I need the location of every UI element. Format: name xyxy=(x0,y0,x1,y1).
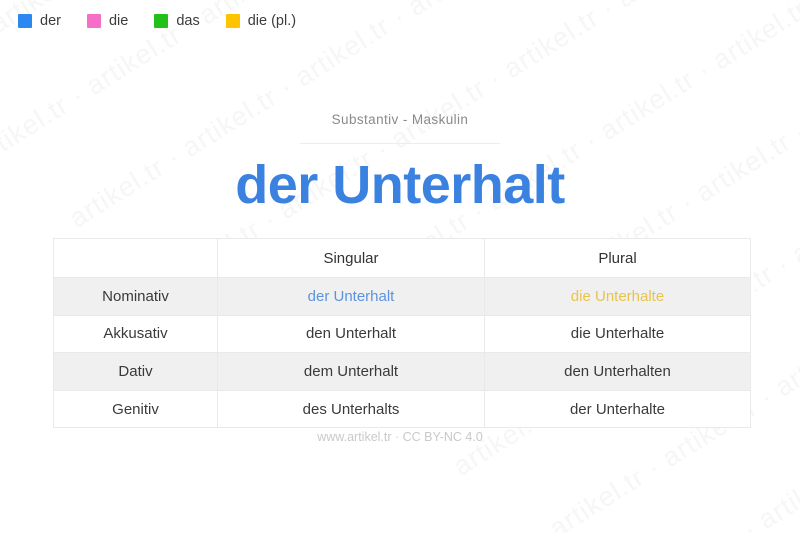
legend-item-die: die xyxy=(87,14,128,29)
declension-table: Singular Plural Nominativder Unterhaltdi… xyxy=(53,238,751,428)
table-row: Genitivdes Unterhaltsder Unterhalte xyxy=(54,390,751,428)
table-row: Nominativder Unterhaltdie Unterhalte xyxy=(54,278,751,316)
color-swatch-icon xyxy=(87,14,101,28)
legend-item-label: die xyxy=(109,14,128,29)
legend-item-label: die (pl.) xyxy=(248,14,296,29)
page-title: der Unterhalt xyxy=(0,157,800,214)
plural-form-cell: die Unterhalte xyxy=(485,278,751,316)
case-label-cell: Nominativ xyxy=(54,278,218,316)
plural-form-cell: der Unterhalte xyxy=(485,390,751,428)
table-header-row: Singular Plural xyxy=(54,239,751,278)
singular-form-cell: den Unterhalt xyxy=(218,315,485,353)
footer-attribution: www.artikel.tr · CC BY-NC 4.0 xyxy=(0,430,800,444)
table-row: Akkusativden Unterhaltdie Unterhalte xyxy=(54,315,751,353)
singular-form-cell: der Unterhalt xyxy=(218,278,485,316)
plural-form-cell: den Unterhalten xyxy=(485,353,751,391)
legend-item-das: das xyxy=(154,14,199,29)
header-block: Substantiv - Maskulin der Unterhalt xyxy=(0,112,800,214)
poster-content: derdiedasdie (pl.) Substantiv - Maskulin… xyxy=(0,0,800,533)
article-color-legend: derdiedasdie (pl.) xyxy=(18,14,296,29)
case-label-cell: Akkusativ xyxy=(54,315,218,353)
legend-item-label: das xyxy=(176,14,199,29)
plural-form-cell: die Unterhalte xyxy=(485,315,751,353)
column-header-plural: Plural xyxy=(485,239,751,278)
color-swatch-icon xyxy=(226,14,240,28)
legend-item-der: der xyxy=(18,14,61,29)
legend-item-label: der xyxy=(40,14,61,29)
color-swatch-icon xyxy=(154,14,168,28)
table-row: Dativdem Unterhaltden Unterhalten xyxy=(54,353,751,391)
header-divider xyxy=(300,143,500,144)
table-header: Singular Plural xyxy=(54,239,751,278)
column-header-singular: Singular xyxy=(218,239,485,278)
case-label-cell: Dativ xyxy=(54,353,218,391)
legend-item-diepl: die (pl.) xyxy=(226,14,296,29)
table-body: Nominativder Unterhaltdie UnterhalteAkku… xyxy=(54,278,751,428)
singular-form-cell: des Unterhalts xyxy=(218,390,485,428)
word-type-label: Substantiv - Maskulin xyxy=(0,112,800,127)
singular-form-cell: dem Unterhalt xyxy=(218,353,485,391)
color-swatch-icon xyxy=(18,14,32,28)
case-label-cell: Genitiv xyxy=(54,390,218,428)
column-header-case xyxy=(54,239,218,278)
